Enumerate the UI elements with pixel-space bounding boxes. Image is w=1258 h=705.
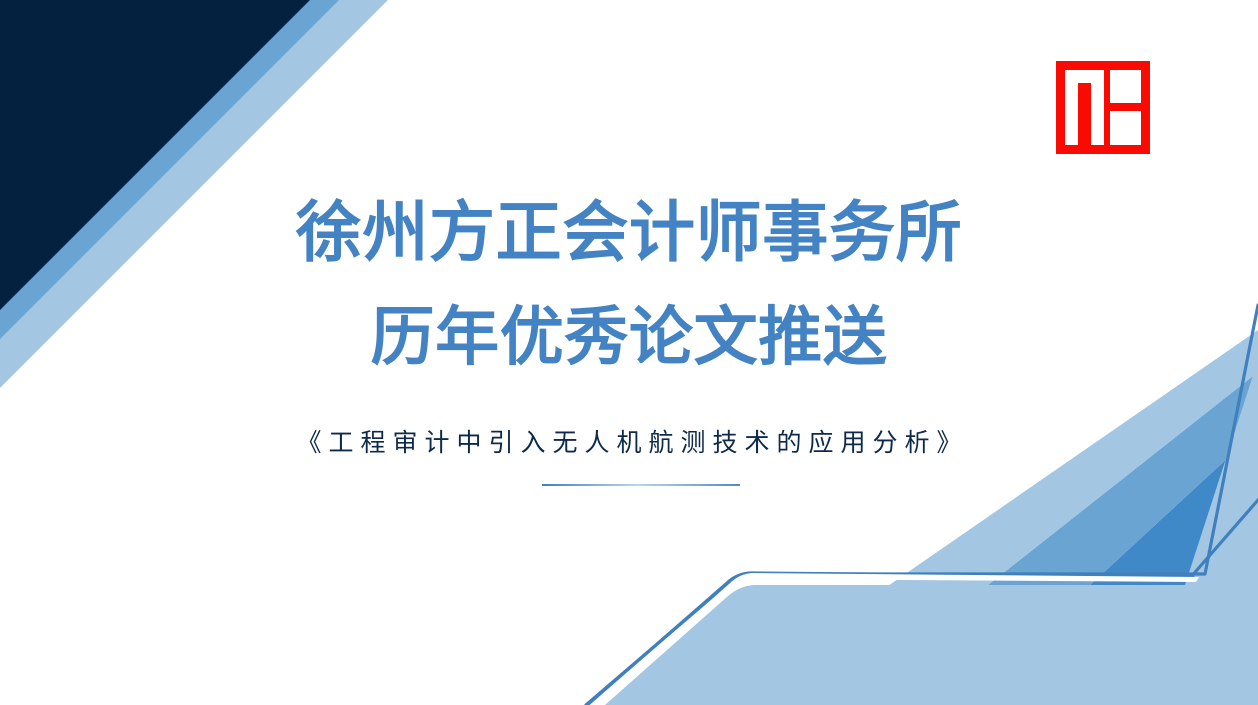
logo-right-upper-rect xyxy=(1110,70,1141,103)
decor-bottom-banner-outline-top xyxy=(586,573,1193,705)
page-title-line-2: 历年优秀论文推送 xyxy=(0,297,1258,379)
decor-bottom-right-light-band xyxy=(716,330,1258,705)
logo-left-slot-b xyxy=(1091,70,1104,145)
decor-bottom-banner-outline-right-leg xyxy=(1190,500,1258,578)
decor-bottom-banner-gap xyxy=(592,573,1199,705)
title-divider xyxy=(542,484,740,486)
decor-bottom-banner-fill xyxy=(605,360,1258,705)
decor-top-left-mid-blue xyxy=(0,0,339,339)
fangzheng-logo-icon xyxy=(1056,61,1150,154)
presentation-slide: 徐州方正会计师事务所 历年优秀论文推送 《工程审计中引入无人机航测技术的应用分析… xyxy=(0,0,1258,705)
page-title-line-1: 徐州方正会计师事务所 xyxy=(0,191,1258,275)
decor-bottom-right-mid-blue xyxy=(836,372,1258,705)
logo-right-lower-rect xyxy=(1110,111,1141,145)
decor-bottom-right-deep-blue xyxy=(960,430,1258,705)
paper-subtitle: 《工程审计中引入无人机航测技术的应用分析》 xyxy=(0,424,1258,462)
